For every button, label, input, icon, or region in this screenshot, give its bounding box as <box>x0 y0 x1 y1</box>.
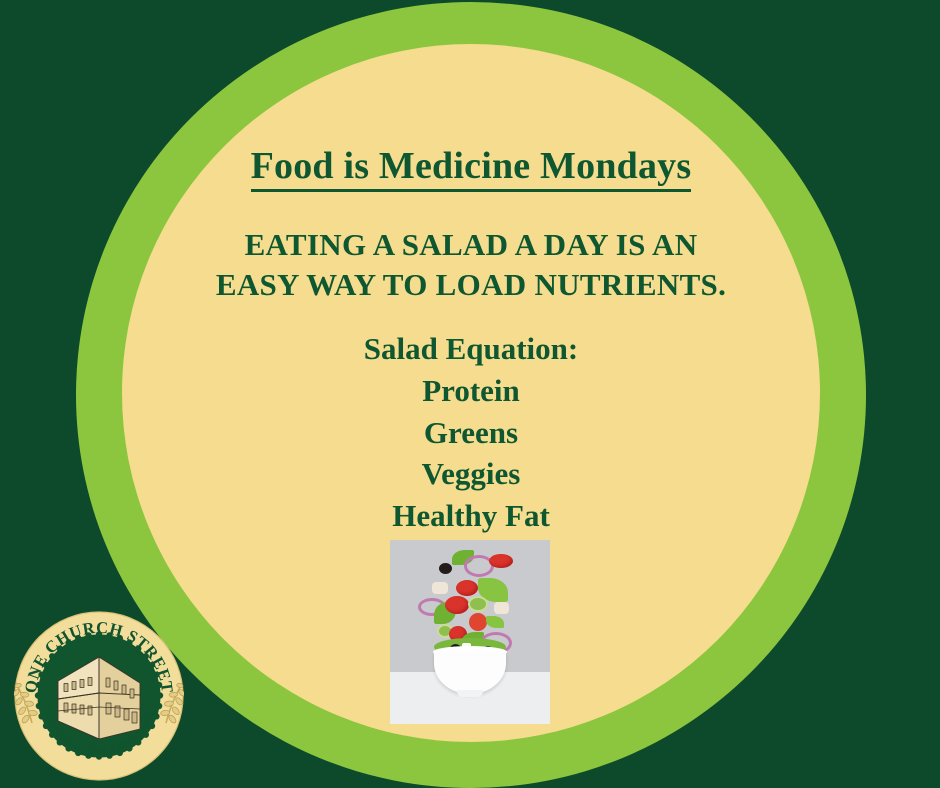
subheadline: EATING A SALAD A DAY IS AN EASY WAY TO L… <box>122 192 820 306</box>
salad-equation-label: Salad Equation: <box>122 328 820 370</box>
subheadline-line-1: EATING A SALAD A DAY IS AN <box>245 227 698 262</box>
tomato-slice-icon <box>489 554 513 568</box>
salad-equation-item-protein: Protein <box>122 370 820 412</box>
organization-logo: ONE CHURCH STREET Nourishing Our Communi… <box>14 611 184 781</box>
page-title-text: Food is Medicine Mondays <box>251 147 692 192</box>
salad-photo <box>390 540 550 724</box>
salad-equation-block: Salad Equation: Protein Greens Veggies H… <box>122 305 820 536</box>
page-title: Food is Medicine Mondays <box>122 44 820 192</box>
tomato-slice-icon <box>456 580 478 596</box>
salad-equation-item-healthy-fat: Healthy Fat <box>122 495 820 537</box>
lettuce-leaf-icon <box>486 616 504 628</box>
tomato-slice-icon <box>445 596 469 614</box>
cucumber-slice-icon <box>468 596 488 612</box>
subheadline-line-2: EASY WAY TO LOAD NUTRIENTS. <box>216 267 726 302</box>
mushroom-icon <box>494 602 509 614</box>
salad-equation-item-veggies: Veggies <box>122 453 820 495</box>
tomato-slice-icon <box>469 613 487 631</box>
bowl-foot <box>457 690 483 697</box>
mushroom-icon <box>432 582 448 594</box>
poster-content: Food is Medicine Mondays EATING A SALAD … <box>122 44 820 536</box>
poster-canvas: Food is Medicine Mondays EATING A SALAD … <box>0 0 940 788</box>
salad-equation-item-greens: Greens <box>122 412 820 454</box>
olive-icon <box>439 563 452 574</box>
